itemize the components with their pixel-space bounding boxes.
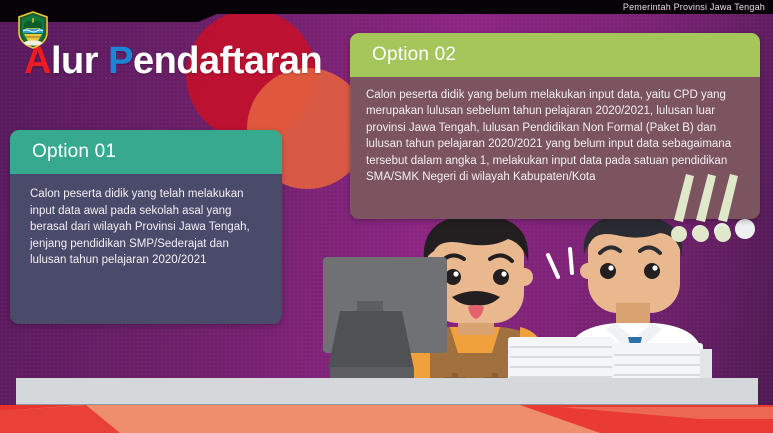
jawa-tengah-coat-of-arms-icon bbox=[12, 10, 54, 50]
option-01-card: Option 01 Calon peserta didik yang telah… bbox=[10, 130, 282, 324]
surprise-strokes-icon bbox=[548, 249, 572, 277]
organization-label: Pemerintah Provinsi Jawa Tengah bbox=[623, 0, 765, 14]
page-title: Alur Pendaftaran bbox=[24, 40, 322, 83]
option-01-heading: Option 01 bbox=[10, 130, 282, 174]
exclamation-marks-icon bbox=[668, 168, 744, 246]
presentation-slide: Pemerintah Provinsi Jawa Tengah Alur Pen… bbox=[0, 0, 773, 433]
option-02-heading: Option 02 bbox=[350, 33, 760, 77]
option-01-body: Calon peserta didik yang telah melakukan… bbox=[10, 174, 282, 324]
title-letter-p: P bbox=[108, 40, 133, 82]
title-word-endaftaran: endaftaran bbox=[133, 40, 322, 82]
title-word-lur: lur bbox=[51, 40, 108, 82]
bottom-accent-bar bbox=[0, 399, 773, 433]
top-bar: Pemerintah Provinsi Jawa Tengah bbox=[0, 0, 773, 14]
